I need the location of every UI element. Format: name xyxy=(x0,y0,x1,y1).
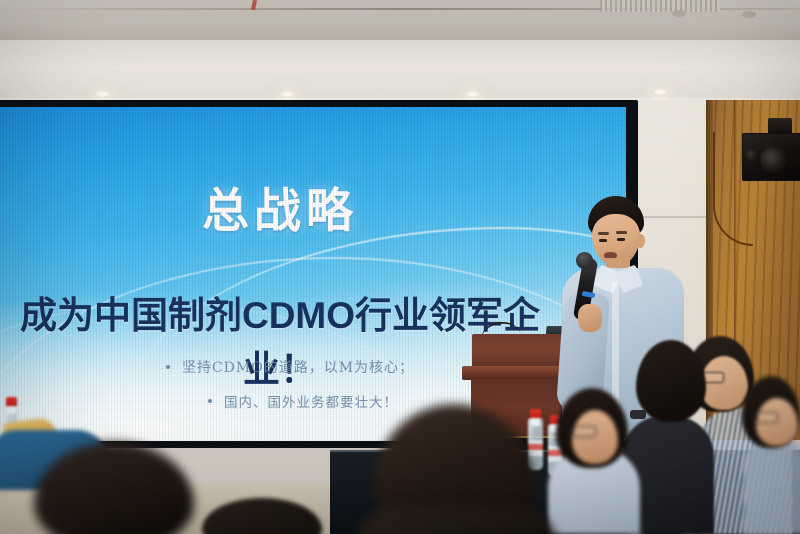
presenter-watch xyxy=(630,410,646,419)
presenter-ear xyxy=(636,234,645,248)
speaker-woofer xyxy=(760,147,786,173)
bottle-neck xyxy=(7,406,16,414)
audience-body xyxy=(744,440,800,534)
presenter-shirt-placket xyxy=(612,282,619,412)
audience-body-foreground xyxy=(356,506,556,534)
ceiling-vent-hole xyxy=(742,11,756,18)
eyeglasses-icon xyxy=(756,412,778,423)
ceiling-vent-hole xyxy=(672,10,686,17)
ceiling-soffit xyxy=(0,40,800,102)
audience-face xyxy=(700,356,748,410)
wall-speaker-icon xyxy=(742,133,800,181)
eyeglasses-icon xyxy=(572,426,596,437)
downlight-icon xyxy=(279,90,296,98)
ceiling-vent-grille-icon xyxy=(600,0,720,12)
downlight-icon xyxy=(652,88,669,96)
audience-face xyxy=(572,410,618,464)
presenter-eyebrow xyxy=(616,231,627,234)
presenter-eye xyxy=(599,239,607,242)
bottle-label-band xyxy=(528,444,543,450)
downlight-icon xyxy=(94,90,111,98)
speaker-tweeter xyxy=(746,150,757,161)
presenter-hand xyxy=(578,304,602,332)
downlight-icon xyxy=(464,90,481,98)
photo-scene: 总战略 成为中国制剂CDMO行业领军企业！ 坚持CDMO的道路，以M为核心； 国… xyxy=(0,0,800,534)
presenter-eye xyxy=(617,238,625,241)
presenter-eyebrow xyxy=(598,232,609,235)
bottle-neck xyxy=(531,418,540,426)
speaker-bracket xyxy=(768,118,792,134)
